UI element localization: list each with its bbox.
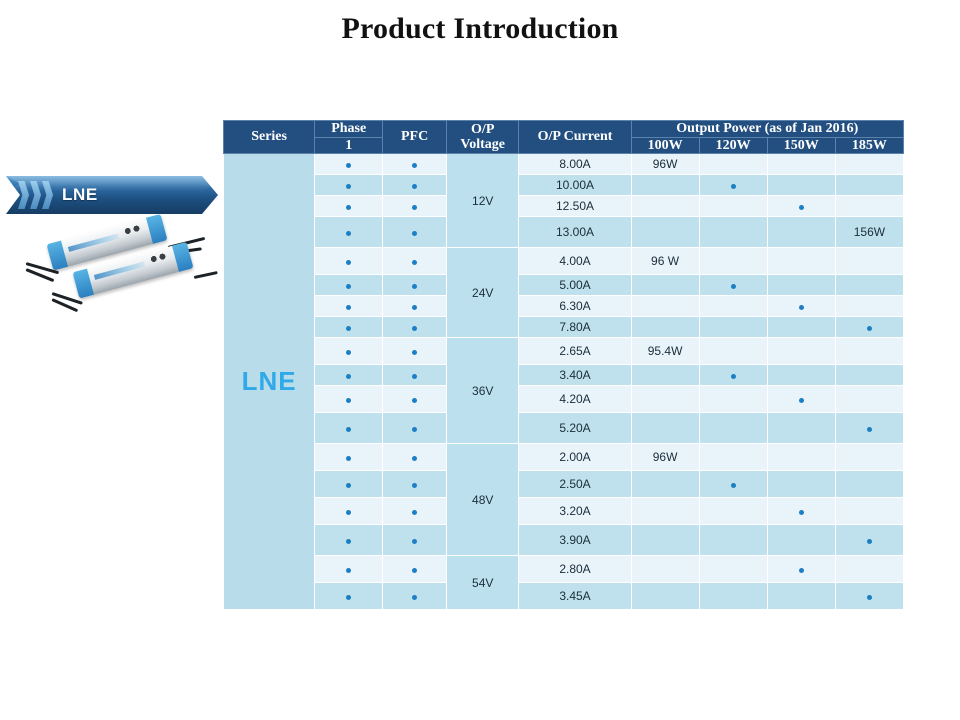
pfc-dot-cell <box>383 196 447 217</box>
bullet-dot-icon <box>346 483 351 488</box>
power-cell-185w <box>835 556 903 583</box>
power-cell-100w <box>631 471 699 498</box>
output-current-cell: 7.80A <box>519 317 631 338</box>
bullet-dot-icon <box>412 398 417 403</box>
power-cell-100w <box>631 365 699 386</box>
phase-dot-cell <box>315 317 383 338</box>
phase-dot-cell <box>315 154 383 175</box>
bullet-dot-icon <box>867 427 872 432</box>
power-cell-120w <box>699 296 767 317</box>
specification-table: Series Phase PFC O/PVoltage O/P Current … <box>223 120 904 610</box>
bullet-dot-icon <box>346 163 351 168</box>
power-cell-185w <box>835 413 903 444</box>
power-cell-100w <box>631 413 699 444</box>
bullet-dot-icon <box>346 260 351 265</box>
power-cell-150w <box>767 386 835 413</box>
output-current-cell: 4.00A <box>519 248 631 275</box>
bullet-dot-icon <box>731 374 736 379</box>
power-cell-185w <box>835 525 903 556</box>
slide-canvas: Product Introduction LNE <box>0 0 960 720</box>
bullet-dot-icon <box>346 510 351 515</box>
col-header-power-100w: 100W <box>631 137 699 154</box>
col-header-op-current: O/P Current <box>519 121 631 154</box>
pfc-dot-cell <box>383 365 447 386</box>
col-header-power-185w: 185W <box>835 137 903 154</box>
table-row: 48V2.00A96W <box>224 444 904 471</box>
product-label <box>68 234 120 252</box>
pfc-dot-cell <box>383 471 447 498</box>
pfc-dot-cell <box>383 583 447 610</box>
output-current-cell: 2.65A <box>519 338 631 365</box>
power-cell-120w <box>699 217 767 248</box>
pfc-dot-cell <box>383 317 447 338</box>
col-header-op-voltage: O/PVoltage <box>446 121 519 154</box>
table-body: LNE12V8.00A96W10.00A12.50A13.00A156W24V4… <box>224 154 904 610</box>
phase-dot-cell <box>315 583 383 610</box>
power-cell-150w <box>767 196 835 217</box>
bullet-dot-icon <box>731 184 736 189</box>
bullet-dot-icon <box>346 184 351 189</box>
series-logo-cell: LNE <box>224 154 315 610</box>
power-cell-185w <box>835 275 903 296</box>
bullet-dot-icon <box>412 326 417 331</box>
power-cell-100w <box>631 583 699 610</box>
power-cell-100w: 96W <box>631 154 699 175</box>
table-row: 3.45A <box>224 583 904 610</box>
power-cell-150w <box>767 525 835 556</box>
table-row: LNE12V8.00A96W <box>224 154 904 175</box>
banner-label: LNE <box>62 176 98 214</box>
output-current-cell: 5.20A <box>519 413 631 444</box>
power-cell-100w <box>631 317 699 338</box>
pfc-dot-cell <box>383 525 447 556</box>
phase-dot-cell <box>315 386 383 413</box>
table-row: 10.00A <box>224 175 904 196</box>
pfc-dot-cell <box>383 338 447 365</box>
table-row: 54V2.80A <box>224 556 904 583</box>
power-cell-150w <box>767 498 835 525</box>
table-row: 4.20A <box>224 386 904 413</box>
product-photo <box>22 228 217 314</box>
power-cell-120w <box>699 196 767 217</box>
table-header: Series Phase PFC O/PVoltage O/P Current … <box>224 121 904 154</box>
power-cell-120w <box>699 317 767 338</box>
power-cell-150w <box>767 413 835 444</box>
power-cell-185w <box>835 583 903 610</box>
power-cell-120w <box>699 444 767 471</box>
output-current-cell: 2.80A <box>519 556 631 583</box>
product-end-cap <box>47 241 68 271</box>
power-cell-185w <box>835 338 903 365</box>
power-cell-100w: 96W <box>631 444 699 471</box>
bullet-dot-icon <box>799 510 804 515</box>
product-wire <box>194 271 218 279</box>
power-cell-100w <box>631 196 699 217</box>
power-cell-120w <box>699 275 767 296</box>
output-current-cell: 4.20A <box>519 386 631 413</box>
bullet-dot-icon <box>346 568 351 573</box>
phase-dot-cell <box>315 444 383 471</box>
phase-dot-cell <box>315 217 383 248</box>
power-cell-185w <box>835 154 903 175</box>
power-cell-150w <box>767 248 835 275</box>
output-current-cell: 2.00A <box>519 444 631 471</box>
bullet-dot-icon <box>346 205 351 210</box>
col-header-phase: Phase <box>315 121 383 138</box>
power-cell-120w <box>699 175 767 196</box>
bullet-dot-icon <box>799 305 804 310</box>
power-cell-185w <box>835 498 903 525</box>
power-cell-185w <box>835 196 903 217</box>
phase-dot-cell <box>315 296 383 317</box>
output-voltage-cell: 12V <box>446 154 519 248</box>
phase-dot-cell <box>315 365 383 386</box>
power-cell-185w <box>835 365 903 386</box>
table-row: 3.20A <box>224 498 904 525</box>
table-row: 7.80A <box>224 317 904 338</box>
bullet-dot-icon <box>412 184 417 189</box>
power-cell-150w <box>767 154 835 175</box>
table-row: 5.00A <box>224 275 904 296</box>
power-cell-100w <box>631 217 699 248</box>
power-cell-185w: 156W <box>835 217 903 248</box>
table-row: 3.90A <box>224 525 904 556</box>
power-cell-120w <box>699 154 767 175</box>
power-cell-150w <box>767 175 835 196</box>
power-cell-150w <box>767 583 835 610</box>
power-cell-100w <box>631 498 699 525</box>
power-cell-150w <box>767 471 835 498</box>
table-row: 2.50A <box>224 471 904 498</box>
power-cell-150w <box>767 217 835 248</box>
bullet-dot-icon <box>412 595 417 600</box>
output-voltage-cell: 24V <box>446 248 519 338</box>
bullet-dot-icon <box>412 456 417 461</box>
bullet-dot-icon <box>346 595 351 600</box>
phase-dot-cell <box>315 471 383 498</box>
power-cell-150w <box>767 338 835 365</box>
bullet-dot-icon <box>346 284 351 289</box>
power-cell-185w <box>835 444 903 471</box>
power-cell-150w <box>767 556 835 583</box>
phase-dot-cell <box>315 525 383 556</box>
phase-dot-cell <box>315 248 383 275</box>
power-cell-185w <box>835 386 903 413</box>
bullet-dot-icon <box>412 305 417 310</box>
phase-dot-cell <box>315 338 383 365</box>
table-row: 36V2.65A95.4W <box>224 338 904 365</box>
table-row: 6.30A <box>224 296 904 317</box>
power-cell-150w <box>767 275 835 296</box>
product-end-cap <box>73 269 94 299</box>
pfc-dot-cell <box>383 556 447 583</box>
bullet-dot-icon <box>346 427 351 432</box>
bullet-dot-icon <box>867 326 872 331</box>
power-cell-120w <box>699 556 767 583</box>
bullet-dot-icon <box>346 305 351 310</box>
bullet-dot-icon <box>799 398 804 403</box>
power-cell-100w <box>631 525 699 556</box>
bullet-dot-icon <box>346 350 351 355</box>
phase-dot-cell <box>315 275 383 296</box>
bullet-dot-icon <box>412 374 417 379</box>
output-current-cell: 8.00A <box>519 154 631 175</box>
output-current-cell: 10.00A <box>519 175 631 196</box>
power-cell-120w <box>699 365 767 386</box>
power-cell-120w <box>699 386 767 413</box>
output-current-cell: 13.00A <box>519 217 631 248</box>
bullet-dot-icon <box>412 350 417 355</box>
power-cell-120w <box>699 338 767 365</box>
power-cell-185w <box>835 296 903 317</box>
bullet-dot-icon <box>346 398 351 403</box>
bullet-dot-icon <box>412 510 417 515</box>
bullet-dot-icon <box>412 539 417 544</box>
product-end-cap <box>146 214 167 244</box>
pfc-dot-cell <box>383 386 447 413</box>
product-label <box>94 262 146 280</box>
series-banner: LNE <box>6 176 218 214</box>
bullet-dot-icon <box>412 260 417 265</box>
bullet-dot-icon <box>799 568 804 573</box>
output-current-cell: 3.40A <box>519 365 631 386</box>
power-cell-120w <box>699 471 767 498</box>
output-current-cell: 12.50A <box>519 196 631 217</box>
power-cell-100w <box>631 275 699 296</box>
table-row: 3.40A <box>224 365 904 386</box>
output-current-cell: 6.30A <box>519 296 631 317</box>
power-cell-100w <box>631 386 699 413</box>
output-voltage-cell: 36V <box>446 338 519 444</box>
bullet-dot-icon <box>412 568 417 573</box>
bullet-dot-icon <box>346 539 351 544</box>
bullet-dot-icon <box>346 374 351 379</box>
power-cell-100w <box>631 556 699 583</box>
output-voltage-cell: 54V <box>446 556 519 610</box>
power-cell-185w <box>835 317 903 338</box>
col-header-power-150w: 150W <box>767 137 835 154</box>
power-cell-120w <box>699 583 767 610</box>
pfc-dot-cell <box>383 275 447 296</box>
power-cell-185w <box>835 471 903 498</box>
col-header-output-power: Output Power (as of Jan 2016) <box>631 121 903 138</box>
bullet-dot-icon <box>867 595 872 600</box>
bullet-dot-icon <box>346 326 351 331</box>
bullet-dot-icon <box>412 231 417 236</box>
pfc-dot-cell <box>383 175 447 196</box>
phase-dot-cell <box>315 498 383 525</box>
output-current-cell: 3.45A <box>519 583 631 610</box>
power-cell-120w <box>699 525 767 556</box>
phase-dot-cell <box>315 196 383 217</box>
power-cell-150w <box>767 296 835 317</box>
col-header-pfc: PFC <box>383 121 447 154</box>
bullet-dot-icon <box>412 427 417 432</box>
bullet-dot-icon <box>412 284 417 289</box>
pfc-dot-cell <box>383 498 447 525</box>
power-cell-150w <box>767 317 835 338</box>
power-cell-100w: 96 W <box>631 248 699 275</box>
table-row: 13.00A156W <box>224 217 904 248</box>
pfc-dot-cell <box>383 444 447 471</box>
pfc-dot-cell <box>383 248 447 275</box>
output-current-cell: 3.20A <box>519 498 631 525</box>
power-cell-120w <box>699 413 767 444</box>
product-screws <box>123 225 140 236</box>
bullet-dot-icon <box>412 205 417 210</box>
table-row: 5.20A <box>224 413 904 444</box>
power-cell-120w <box>699 248 767 275</box>
power-cell-150w <box>767 365 835 386</box>
power-cell-185w <box>835 175 903 196</box>
product-screws <box>149 253 166 264</box>
page-title: Product Introduction <box>0 12 960 46</box>
product-end-cap <box>172 242 193 272</box>
bullet-dot-icon <box>731 483 736 488</box>
bullet-dot-icon <box>799 205 804 210</box>
power-cell-100w: 95.4W <box>631 338 699 365</box>
bullet-dot-icon <box>346 231 351 236</box>
power-cell-100w <box>631 175 699 196</box>
power-cell-150w <box>767 444 835 471</box>
power-cell-185w <box>835 248 903 275</box>
col-header-power-120w: 120W <box>699 137 767 154</box>
phase-dot-cell <box>315 556 383 583</box>
output-current-cell: 2.50A <box>519 471 631 498</box>
pfc-dot-cell <box>383 154 447 175</box>
power-cell-100w <box>631 296 699 317</box>
bullet-dot-icon <box>346 456 351 461</box>
bullet-dot-icon <box>412 483 417 488</box>
bullet-dot-icon <box>412 163 417 168</box>
phase-dot-cell <box>315 175 383 196</box>
output-current-cell: 5.00A <box>519 275 631 296</box>
pfc-dot-cell <box>383 217 447 248</box>
bullet-dot-icon <box>731 284 736 289</box>
output-current-cell: 3.90A <box>519 525 631 556</box>
col-header-series: Series <box>224 121 315 154</box>
pfc-dot-cell <box>383 296 447 317</box>
phase-dot-cell <box>315 413 383 444</box>
table-row: 24V4.00A96 W <box>224 248 904 275</box>
header-row-top: Series Phase PFC O/PVoltage O/P Current … <box>224 121 904 138</box>
pfc-dot-cell <box>383 413 447 444</box>
col-header-phase-value: 1 <box>315 137 383 154</box>
table-row: 12.50A <box>224 196 904 217</box>
power-cell-120w <box>699 498 767 525</box>
bullet-dot-icon <box>867 539 872 544</box>
output-voltage-cell: 48V <box>446 444 519 556</box>
